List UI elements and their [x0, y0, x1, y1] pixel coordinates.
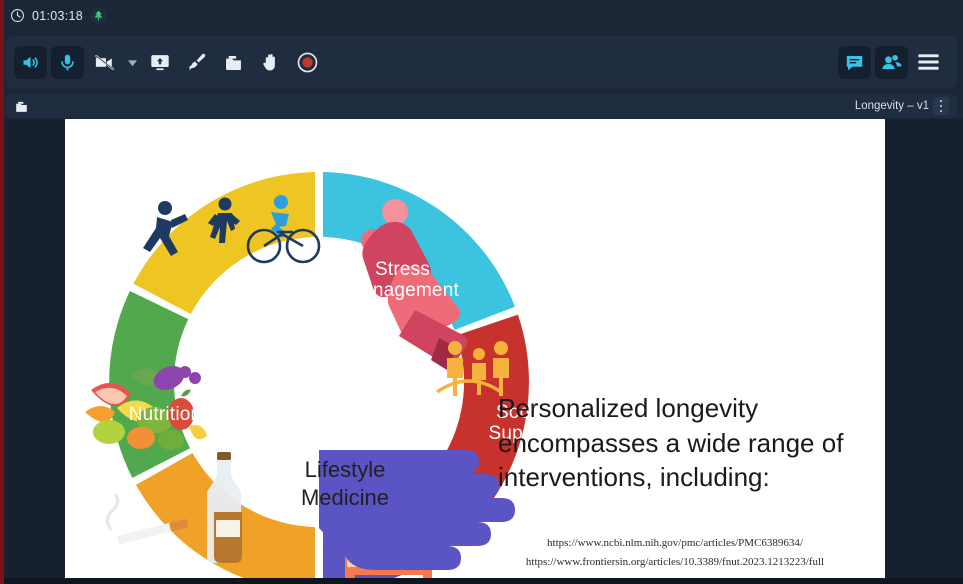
participants-button[interactable]: [875, 46, 908, 79]
document-title: Longevity – v1: [855, 100, 929, 112]
record-icon: [296, 51, 319, 74]
main-toolbar: [0, 31, 963, 93]
document-bar: Longevity – v1: [0, 93, 963, 119]
document-bar-inner: Longevity – v1: [6, 94, 957, 118]
source-link-1[interactable]: https://www.ncbi.nlm.nih.gov/pmc/article…: [465, 534, 885, 553]
brush-button[interactable]: [180, 46, 213, 79]
record-button[interactable]: [291, 46, 324, 79]
raise-hand-button[interactable]: [254, 46, 287, 79]
microphone-button[interactable]: [51, 46, 84, 79]
more-vertical-icon[interactable]: [933, 97, 949, 115]
bottom-strip: [0, 578, 963, 584]
toolbar-left-group: [14, 46, 324, 79]
lifestyle-medicine-wheel: z z z Exercise Stress Management: [65, 120, 573, 584]
slide-canvas[interactable]: z z z Exercise Stress Management: [65, 119, 885, 584]
speaker-icon: [20, 52, 41, 73]
hand-icon: [260, 52, 281, 73]
kebab-dot: [940, 110, 943, 113]
menu-button[interactable]: [912, 46, 945, 79]
chat-icon: [844, 52, 865, 73]
participants-icon: [881, 51, 903, 73]
slide-sources: https://www.ncbi.nlm.nih.gov/pmc/article…: [465, 534, 885, 573]
chat-button[interactable]: [838, 46, 871, 79]
camera-off-icon: [93, 51, 116, 74]
files-button[interactable]: [217, 46, 250, 79]
camera-button[interactable]: [88, 46, 121, 79]
toolbar-inner: [6, 36, 957, 88]
microphone-icon: [57, 52, 78, 73]
status-bar: 01:03:18: [0, 0, 963, 31]
folder-icon: [223, 52, 244, 73]
screen-share-icon: [149, 51, 171, 73]
folder-icon[interactable]: [14, 99, 29, 114]
session-time-text: 01:03:18: [32, 9, 83, 23]
meeting-app-window: 01:03:18: [0, 0, 963, 584]
tree-icon: [90, 7, 107, 24]
toolbar-right-group: [838, 46, 945, 79]
chevron-down-icon: [128, 55, 137, 70]
speaker-button[interactable]: [14, 46, 47, 79]
session-timer: 01:03:18: [10, 0, 107, 31]
document-title-group: Longevity – v1: [855, 97, 949, 115]
left-edge-strip: [0, 0, 4, 584]
source-link-2[interactable]: https://www.frontiersin.org/articles/10.…: [465, 553, 885, 572]
kebab-dot: [940, 100, 943, 103]
slide-body-text: Personalized longevity encompasses a wid…: [498, 391, 873, 495]
camera-options-button[interactable]: [125, 47, 139, 77]
hamburger-icon: [917, 53, 940, 71]
brush-icon: [186, 51, 208, 73]
kebab-dot: [940, 105, 943, 108]
screenshare-button[interactable]: [143, 46, 176, 79]
slide-stage: z z z Exercise Stress Management: [0, 119, 963, 584]
clock-icon: [10, 8, 25, 23]
